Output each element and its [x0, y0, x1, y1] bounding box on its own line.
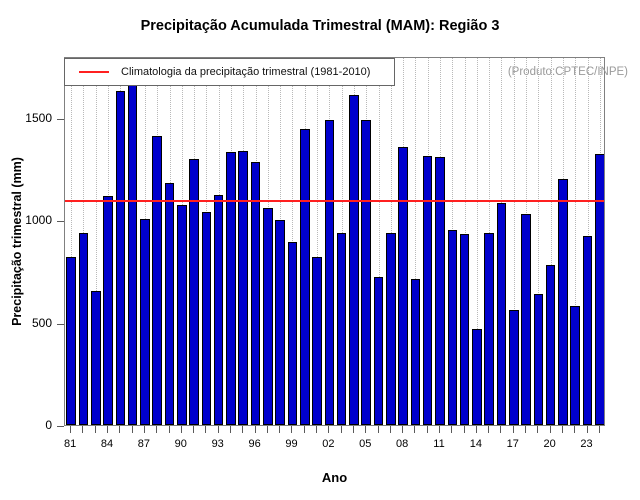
bar [189, 159, 199, 425]
x-tick-mark [451, 426, 452, 433]
x-tick-mark [242, 426, 243, 433]
x-tick-label: 20 [530, 438, 570, 450]
bar [214, 195, 224, 425]
chart-container: Precipitação Acumulada Trimestral (MAM):… [0, 0, 640, 500]
x-tick-mark [525, 426, 526, 433]
x-tick-mark [304, 426, 305, 433]
x-tick-label: 81 [50, 438, 90, 450]
x-tick-mark [193, 426, 194, 433]
bar [66, 257, 76, 425]
x-tick-mark [132, 426, 133, 433]
x-tick-mark [82, 426, 83, 433]
legend-label: Climatologia da precipitação trimestral … [121, 66, 370, 78]
x-tick-mark [316, 426, 317, 433]
x-tick-label: 93 [198, 438, 238, 450]
bar [325, 120, 335, 425]
chart-title: Precipitação Acumulada Trimestral (MAM):… [0, 18, 640, 34]
x-tick-mark [119, 426, 120, 433]
bar [238, 151, 248, 425]
x-tick-mark [156, 426, 157, 433]
bar [595, 154, 605, 425]
bar [300, 129, 310, 425]
bar [202, 212, 212, 425]
x-tick-label: 84 [87, 438, 127, 450]
bar [140, 219, 150, 425]
x-tick-label: 96 [235, 438, 275, 450]
bar [558, 179, 568, 425]
x-tick-mark [353, 426, 354, 433]
x-tick-mark [267, 426, 268, 433]
x-tick-mark [599, 426, 600, 433]
bar [349, 95, 359, 425]
y-tick-mark [57, 119, 64, 120]
x-tick-mark [427, 426, 428, 433]
x-tick-mark [537, 426, 538, 433]
bar [484, 233, 494, 425]
bar [435, 157, 445, 425]
bar [398, 147, 408, 425]
x-tick-label: 14 [456, 438, 496, 450]
x-tick-mark [402, 426, 403, 433]
legend: Climatologia da precipitação trimestral … [64, 58, 395, 86]
x-tick-label: 23 [567, 438, 607, 450]
x-tick-mark [328, 426, 329, 433]
x-tick-mark [574, 426, 575, 433]
bar [472, 329, 482, 425]
x-tick-mark [414, 426, 415, 433]
bar [460, 234, 470, 425]
x-tick-mark [181, 426, 182, 433]
x-tick-label: 90 [161, 438, 201, 450]
x-tick-mark [230, 426, 231, 433]
x-tick-mark [365, 426, 366, 433]
bar [386, 233, 396, 425]
x-tick-mark [562, 426, 563, 433]
bar [521, 214, 531, 425]
x-tick-mark [255, 426, 256, 433]
bar [312, 257, 322, 425]
plot-area [64, 57, 605, 426]
bar [337, 233, 347, 425]
x-tick-mark [169, 426, 170, 433]
bar [263, 208, 273, 426]
x-tick-label: 87 [124, 438, 164, 450]
product-watermark: (Produto:CPTEC/INPE) [508, 66, 628, 78]
x-tick-label: 05 [345, 438, 385, 450]
legend-line-swatch [79, 71, 109, 73]
bar [91, 291, 101, 425]
x-tick-mark [439, 426, 440, 433]
bar [583, 236, 593, 425]
x-tick-label: 99 [271, 438, 311, 450]
x-tick-mark [587, 426, 588, 433]
bar [497, 203, 507, 425]
bar [226, 152, 236, 425]
x-axis-title: Ano [64, 470, 605, 485]
x-tick-mark [513, 426, 514, 433]
bar [534, 294, 544, 425]
bar [103, 196, 113, 425]
bar [288, 242, 298, 425]
climatology-reference-line [65, 200, 604, 202]
bar [374, 277, 384, 425]
x-tick-mark [341, 426, 342, 433]
bar [165, 183, 175, 425]
x-tick-label: 11 [419, 438, 459, 450]
y-tick-mark [57, 221, 64, 222]
x-tick-mark [144, 426, 145, 433]
bar [116, 91, 126, 425]
bar [177, 205, 187, 425]
bar [79, 233, 89, 425]
x-tick-mark [390, 426, 391, 433]
x-tick-mark [95, 426, 96, 433]
y-axis-title: Precipitação trimestral (mm) [10, 57, 26, 426]
bar [128, 67, 138, 425]
x-tick-mark [464, 426, 465, 433]
bar [448, 230, 458, 425]
bar [152, 136, 162, 425]
x-tick-mark [550, 426, 551, 433]
y-tick-mark [57, 324, 64, 325]
x-tick-mark [500, 426, 501, 433]
x-tick-label: 17 [493, 438, 533, 450]
bar [275, 220, 285, 425]
x-tick-mark [218, 426, 219, 433]
bar [570, 306, 580, 426]
bar [509, 310, 519, 425]
plot-inner [65, 58, 604, 425]
x-tick-mark [279, 426, 280, 433]
x-tick-label: 02 [308, 438, 348, 450]
x-tick-mark [291, 426, 292, 433]
x-tick-mark [70, 426, 71, 433]
x-tick-mark [476, 426, 477, 433]
x-tick-mark [205, 426, 206, 433]
x-tick-mark [378, 426, 379, 433]
y-tick-mark [57, 426, 64, 427]
bar [411, 279, 421, 425]
x-tick-mark [107, 426, 108, 433]
bar [546, 265, 556, 425]
bar [423, 156, 433, 425]
x-tick-mark [488, 426, 489, 433]
x-tick-label: 08 [382, 438, 422, 450]
bar [361, 120, 371, 425]
